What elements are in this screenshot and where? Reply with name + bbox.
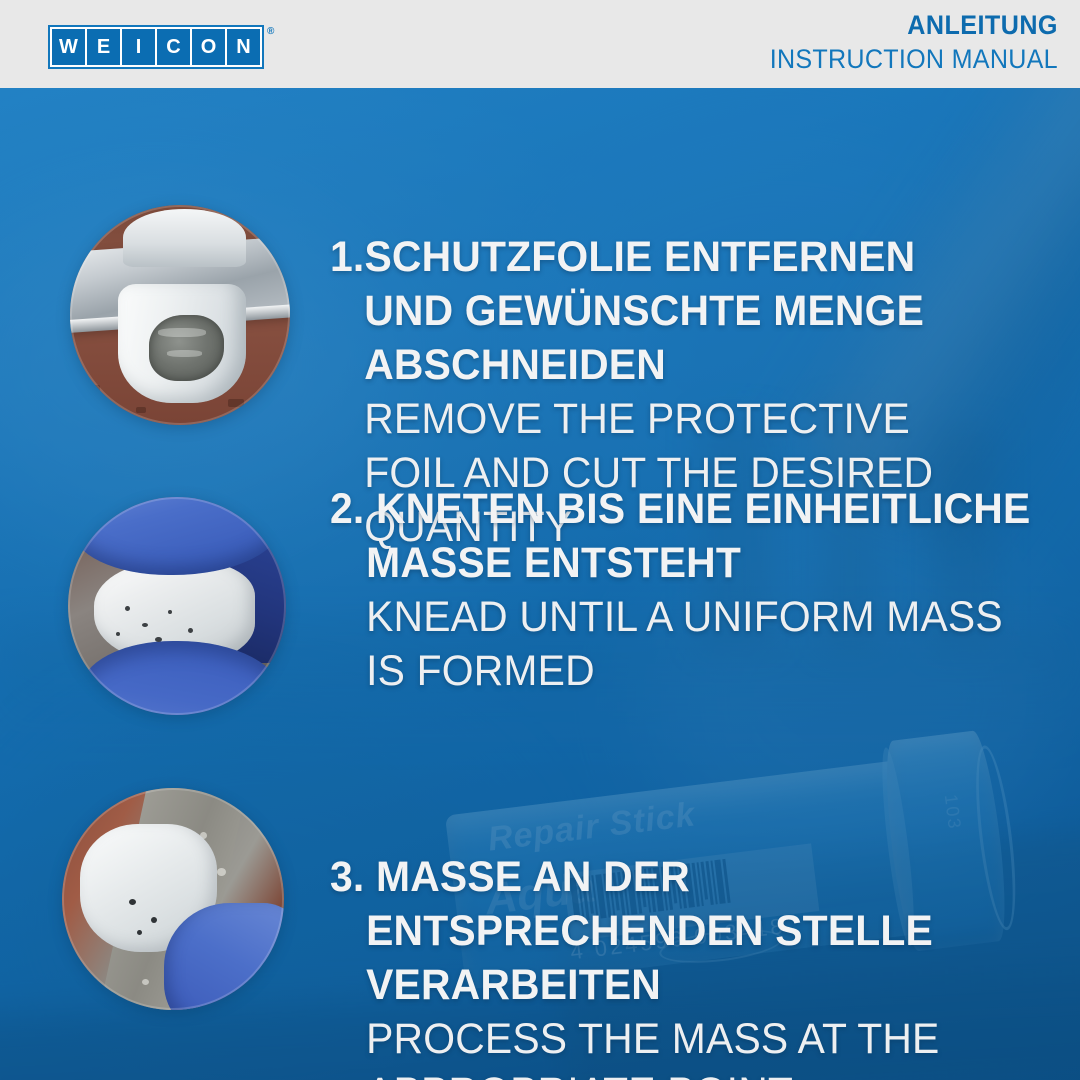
logo-letter: O (192, 29, 225, 65)
weicon-logo: W E I C O N ® (48, 25, 274, 69)
step-en-line: IS FORMED (330, 644, 995, 698)
step-photo-2 (68, 497, 286, 715)
steps-container: 1.SCHUTZFOLIE ENTFERNEN UND GEWÜNSCHTE M… (0, 88, 1080, 1080)
step-en-line: REMOVE THE PROTECTIVE (330, 392, 957, 446)
photo-inner-ring (68, 497, 286, 715)
step-en-line: PROCESS THE MASS AT THE (330, 1012, 948, 1066)
page-header: W E I C O N ® ANLEITUNG INSTRUCTION MANU… (0, 0, 1080, 88)
step-text-3: 3. MASSE AN DER ENTSPRECHENDEN STELLE VE… (330, 850, 980, 1080)
step-text-2: 2. KNETEN BIS EINE EINHEITLICHE MASSE EN… (330, 482, 1030, 698)
photo-inner-ring (62, 788, 284, 1010)
step-de-line: ABSCHNEIDEN (330, 338, 957, 392)
step-de-line: 3. MASSE AN DER (330, 850, 948, 904)
step-photo-3 (62, 788, 284, 1010)
step-de-line: ENTSPRECHENDEN STELLE (330, 904, 948, 958)
logo-letter: N (227, 29, 260, 65)
photo-content (70, 205, 290, 425)
logo-letter: C (157, 29, 190, 65)
header-title-en: INSTRUCTION MANUAL (770, 46, 1058, 73)
logo-blocks: W E I C O N (48, 25, 264, 69)
step-de-line: UND GEWÜNSCHTE MENGE (330, 284, 957, 338)
step-photo-1 (70, 205, 290, 425)
step-de-line: MASSE ENTSTEHT (330, 536, 995, 590)
header-title-group: ANLEITUNG INSTRUCTION MANUAL (748, 12, 1058, 73)
photo-content (68, 497, 286, 715)
step-en-line: KNEAD UNTIL A UNIFORM MASS (330, 590, 995, 644)
registered-trademark-icon: ® (267, 26, 274, 37)
photo-content (62, 788, 284, 1010)
photo-inner-ring (70, 205, 290, 425)
header-title-de: ANLEITUNG (770, 12, 1058, 39)
logo-letter: W (52, 29, 85, 65)
step-de-line: VERARBEITEN (330, 958, 948, 1012)
logo-letter: E (87, 29, 120, 65)
instruction-manual-page: W E I C O N ® ANLEITUNG INSTRUCTION MANU… (0, 0, 1080, 1080)
step-de-line: 1.SCHUTZFOLIE ENTFERNEN (330, 230, 957, 284)
step-en-line: APPROPRIATE POINT (330, 1066, 948, 1080)
logo-letter: I (122, 29, 155, 65)
step-de-line: 2. KNETEN BIS EINE EINHEITLICHE (330, 482, 995, 536)
